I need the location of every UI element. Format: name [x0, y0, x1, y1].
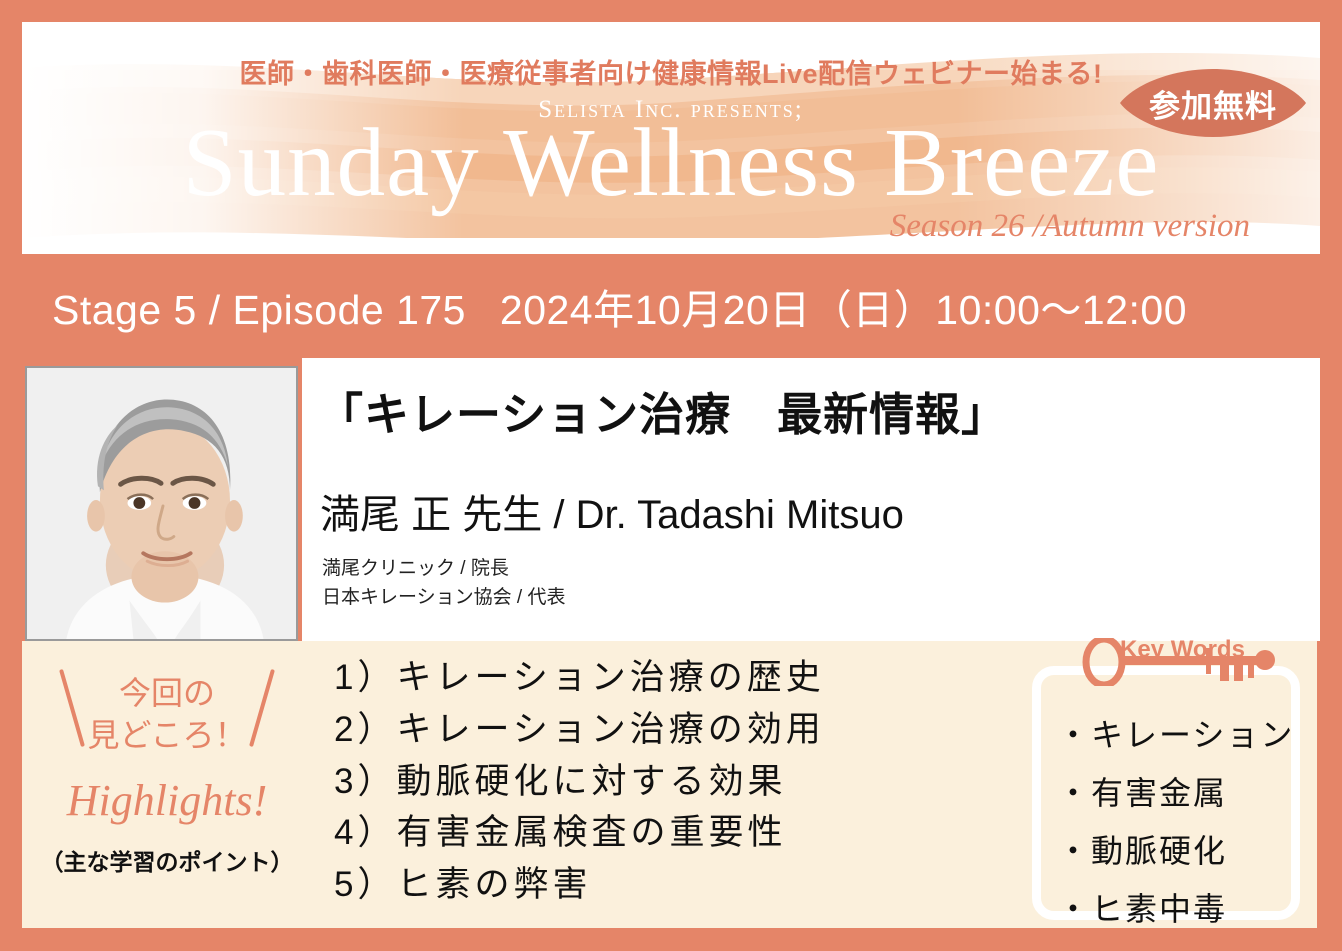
list-item: 5）ヒ素の弊害 [334, 859, 825, 911]
keywords-label: Key Words [1120, 636, 1245, 664]
episode-label: Stage 5 / Episode 175 [52, 287, 466, 333]
header-banner: 医師・歯科医師・医療従事者向け健康情報Live配信ウェビナー始まる! Selis… [22, 22, 1320, 254]
affiliation-line-2: 日本キレーション協会 / 代表 [322, 583, 565, 612]
free-admission-badge: 参加無料 [1118, 67, 1308, 139]
list-item: ・有害金属 [1057, 777, 1281, 809]
affiliation-line-1: 満尾クリニック / 院長 [322, 554, 565, 583]
header-season: Season 26 /Autumn version [890, 208, 1250, 245]
highlights-block: 今回の 見どころ！ Highlights! （主な学習のポイント） [22, 650, 312, 920]
highlights-japanese-heading: 今回の 見どころ！ [22, 672, 312, 756]
highlights-subtitle: （主な学習のポイント） [22, 843, 312, 877]
list-item: 2）キレーション治療の効用 [334, 704, 825, 756]
highlights-jp-line-2: 見どころ！ [22, 714, 312, 756]
webinar-poster: 医師・歯科医師・医療従事者向け健康情報Live配信ウェビナー始まる! Selis… [0, 0, 1342, 949]
keywords-box: ・キレーション ・有害金属 ・動脈硬化 ・ヒ素中毒 [1032, 666, 1300, 920]
list-item: ・キレーション [1057, 719, 1281, 751]
stage-date-text: Stage 5 / Episode 175 2024年10月20日（日）10:0… [52, 276, 1187, 336]
datetime-label: 2024年10月20日（日）10:00〜12:00 [500, 287, 1187, 333]
highlight-points-list: 1）キレーション治療の歴史 2）キレーション治療の効用 3）動脈硬化に対する効果… [334, 652, 825, 911]
session-panel: 「キレーション治療 最新情報」 満尾 正 先生 / Dr. Tadashi Mi… [302, 358, 1320, 641]
speaker-portrait-photo [25, 366, 298, 641]
portrait-illustration [27, 368, 296, 639]
keywords-list: ・キレーション ・有害金属 ・動脈硬化 ・ヒ素中毒 [1057, 719, 1281, 951]
talk-title: 「キレーション治療 最新情報」 [318, 378, 1007, 443]
list-item: ・ヒ素中毒 [1057, 893, 1281, 925]
free-admission-label: 参加無料 [1118, 67, 1308, 139]
stage-date-bar: Stage 5 / Episode 175 2024年10月20日（日）10:0… [0, 254, 1342, 358]
list-item: ・動脈硬化 [1057, 835, 1281, 867]
list-item: 4）有害金属検査の重要性 [334, 807, 825, 859]
highlights-english-heading: Highlights! [22, 775, 312, 826]
speaker-name: 満尾 正 先生 / Dr. Tadashi Mitsuo [320, 482, 904, 540]
keywords-panel: ・キレーション ・有害金属 ・動脈硬化 ・ヒ素中毒 Key Words [1032, 648, 1300, 920]
highlights-jp-line-1: 今回の [22, 672, 312, 714]
list-item: 1）キレーション治療の歴史 [334, 652, 825, 704]
speaker-affiliation: 満尾クリニック / 院長 日本キレーション協会 / 代表 [322, 554, 565, 613]
list-item: 3）動脈硬化に対する効果 [334, 756, 825, 808]
